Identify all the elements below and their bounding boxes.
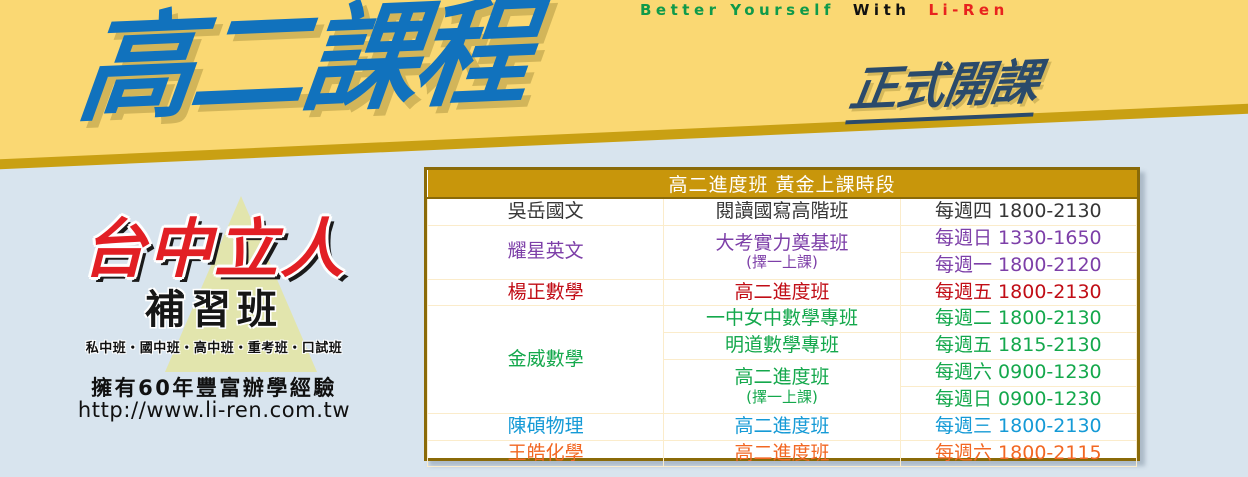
page-subtitle: 正式開課 [845, 58, 1042, 124]
time-cell: 每週四 1800-2130 [900, 198, 1136, 225]
time-cell: 每週六 1800-2115 [900, 440, 1136, 467]
time-cell: 每週三 1800-2130 [900, 413, 1136, 440]
time-cell: 每週二 1800-2130 [900, 306, 1136, 333]
schedule-table-body: 吳岳國文閱讀國寫高階班每週四 1800-2130耀星英文大考實力奠基班(擇一上課… [428, 198, 1137, 467]
table-row: 金威數學一中女中數學專班每週二 1800-2130 [428, 306, 1137, 333]
time-cell: 每週五 1815-2130 [900, 333, 1136, 360]
course-cell: 大考實力奠基班(擇一上課) [664, 225, 900, 279]
course-note: (擇一上課) [670, 254, 893, 271]
teacher-cell: 金威數學 [428, 306, 664, 413]
logo-brand-name: 台中立人 [44, 218, 384, 282]
table-row: 吳岳國文閱讀國寫高階班每週四 1800-2130 [428, 198, 1137, 225]
table-row: 楊正數學高二進度班每週五 1800-2130 [428, 279, 1137, 306]
tagline: Better YourselfWithLi-Ren [640, 1, 1009, 19]
course-cell: 閱讀國寫高階班 [664, 198, 900, 225]
page-title: 高二課程 [73, 0, 534, 130]
table-row: 陳碩物理高二進度班每週三 1800-2130 [428, 413, 1137, 440]
schedule-header-title: 高二進度班 黃金上課時段 [428, 170, 1137, 198]
teacher-cell: 陳碩物理 [428, 413, 664, 440]
time-cell: 每週一 1800-2120 [900, 252, 1136, 279]
course-cell: 一中女中數學專班 [664, 306, 900, 333]
time-cell: 每週日 1330-1650 [900, 225, 1136, 252]
course-cell: 高二進度班(擇一上課) [664, 360, 900, 414]
course-cell: 高二進度班 [664, 279, 900, 306]
teacher-cell: 吳岳國文 [428, 198, 664, 225]
table-row: 耀星英文大考實力奠基班(擇一上課)每週日 1330-1650 [428, 225, 1137, 252]
time-cell: 每週五 1800-2130 [900, 279, 1136, 306]
logo-brand-type: 補習班 [44, 290, 384, 330]
logo-course-list: 私中班・國中班・高中班・重考班・口試班 [44, 337, 384, 356]
table-row: 王皓化學高二進度班每週六 1800-2115 [428, 440, 1137, 467]
schedule-table-container: 高二進度班 黃金上課時段 吳岳國文閱讀國寫高階班每週四 1800-2130耀星英… [424, 167, 1140, 461]
tagline-part-2: With [853, 1, 911, 19]
logo-website-url[interactable]: http://www.li-ren.com.tw [44, 398, 384, 422]
time-cell: 每週日 0900-1230 [900, 386, 1136, 413]
teacher-cell: 王皓化學 [428, 440, 664, 467]
course-cell: 高二進度班 [664, 413, 900, 440]
course-cell: 高二進度班 [664, 440, 900, 467]
course-cell: 明道數學專班 [664, 333, 900, 360]
time-cell: 每週六 0900-1230 [900, 360, 1136, 387]
table-header-row: 高二進度班 黃金上課時段 [428, 170, 1137, 198]
teacher-cell: 耀星英文 [428, 225, 664, 279]
course-note: (擇一上課) [670, 389, 893, 406]
logo: 台中立人 補習班 私中班・國中班・高中班・重考班・口試班 擁有60年豐富辦學經驗… [30, 196, 390, 426]
tagline-part-1: Better Yourself [640, 1, 835, 19]
teacher-cell: 楊正數學 [428, 279, 664, 306]
schedule-table: 高二進度班 黃金上課時段 吳岳國文閱讀國寫高階班每週四 1800-2130耀星英… [427, 170, 1137, 467]
tagline-part-3: Li-Ren [928, 1, 1008, 19]
